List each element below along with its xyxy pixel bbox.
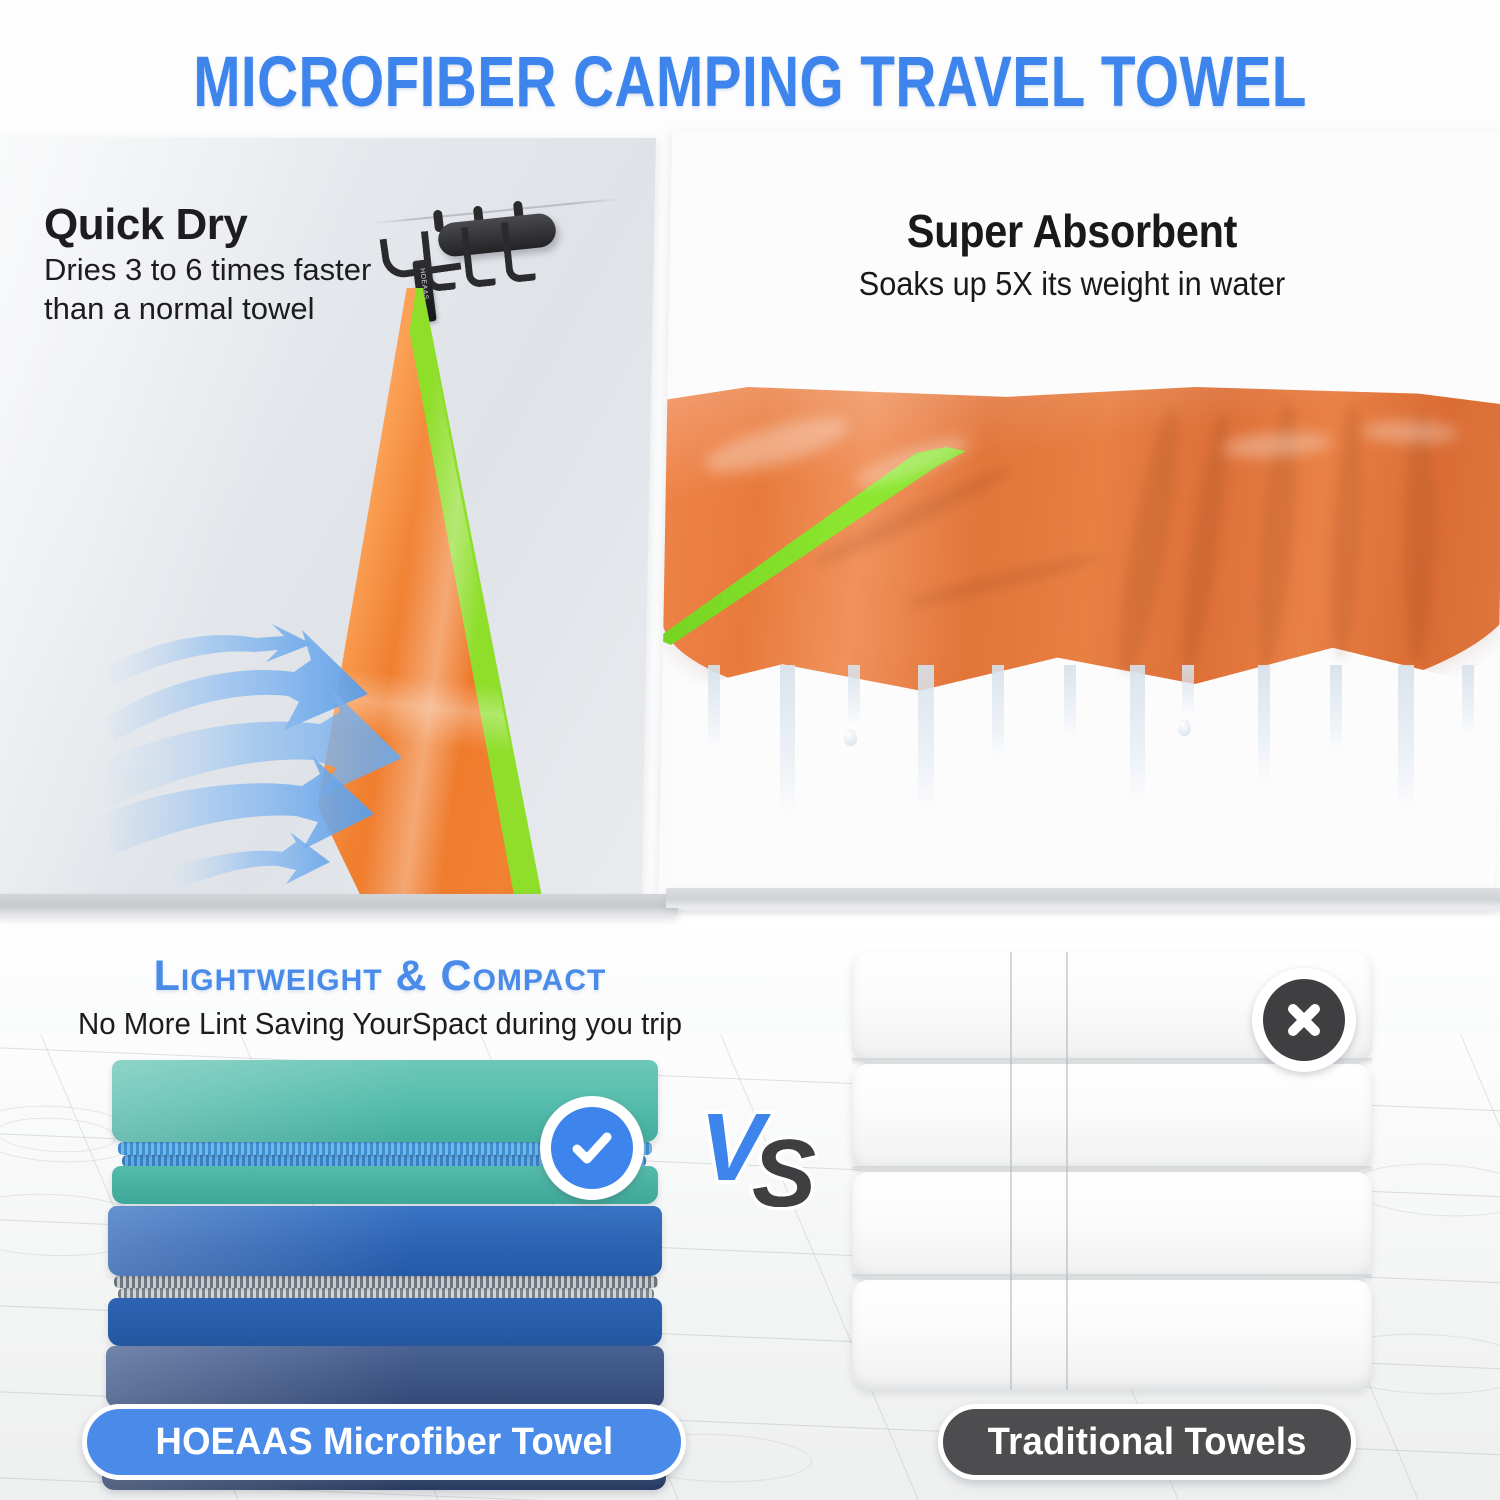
shelf-divider-left: [0, 894, 678, 916]
quick-dry-heading: Quick Dry: [44, 200, 247, 250]
lightweight-subtitle: No More Lint Saving YourSpact during you…: [19, 1006, 741, 1042]
versus-s-fill: S: [752, 1126, 816, 1222]
mesh-trim-gray: [114, 1276, 658, 1288]
white-towel-layer: [852, 1280, 1372, 1390]
quick-dry-subtitle-line1: Dries 3 to 6 times faster: [44, 250, 394, 289]
water-drips-icon: [662, 665, 1500, 835]
wall-hook-rack-icon: HOEAAS: [402, 176, 592, 306]
hook-icon: [461, 225, 496, 289]
white-towel-layer: [852, 1064, 1372, 1172]
page-title-text: MICROFIBER CAMPING TRAVEL TOWEL: [193, 42, 1307, 123]
label-microfiber-towel[interactable]: HOEAAS Microfiber Towel: [82, 1404, 686, 1480]
label-traditional-towels-text: Traditional Towels: [988, 1421, 1307, 1464]
lightweight-heading: Lightweight & Compact: [0, 952, 760, 1001]
check-icon: [551, 1107, 633, 1189]
panel-super-absorbent: Super Absorbent Soaks up 5X its weight i…: [658, 132, 1500, 910]
airflow-arrows-icon: [106, 608, 466, 908]
x-badge: [1252, 968, 1356, 1072]
hook-icon: [501, 220, 536, 284]
white-towel-layer: [852, 1172, 1372, 1280]
label-microfiber-towel-text: HOEAAS Microfiber Towel: [155, 1421, 613, 1464]
check-badge: [540, 1096, 644, 1200]
close-icon: [1263, 979, 1345, 1061]
panel-quick-dry: Quick Dry Dries 3 to 6 times faster than…: [0, 138, 656, 908]
page-title: MICROFIBER CAMPING TRAVEL TOWEL: [0, 34, 1500, 130]
infographic-page: MICROFIBER CAMPING TRAVEL TOWEL Quick Dr…: [0, 0, 1500, 1500]
shelf-divider-right: [666, 888, 1500, 908]
super-absorbent-subtitle: Soaks up 5X its weight in water: [700, 265, 1444, 303]
label-traditional-towels[interactable]: Traditional Towels: [938, 1404, 1356, 1480]
towel-layer-royal-blue-base: [108, 1298, 662, 1346]
versus-badge: V V S S: [700, 1100, 830, 1232]
wet-twisted-towel-image: [662, 387, 1500, 827]
super-absorbent-heading: Super Absorbent: [712, 204, 1432, 258]
